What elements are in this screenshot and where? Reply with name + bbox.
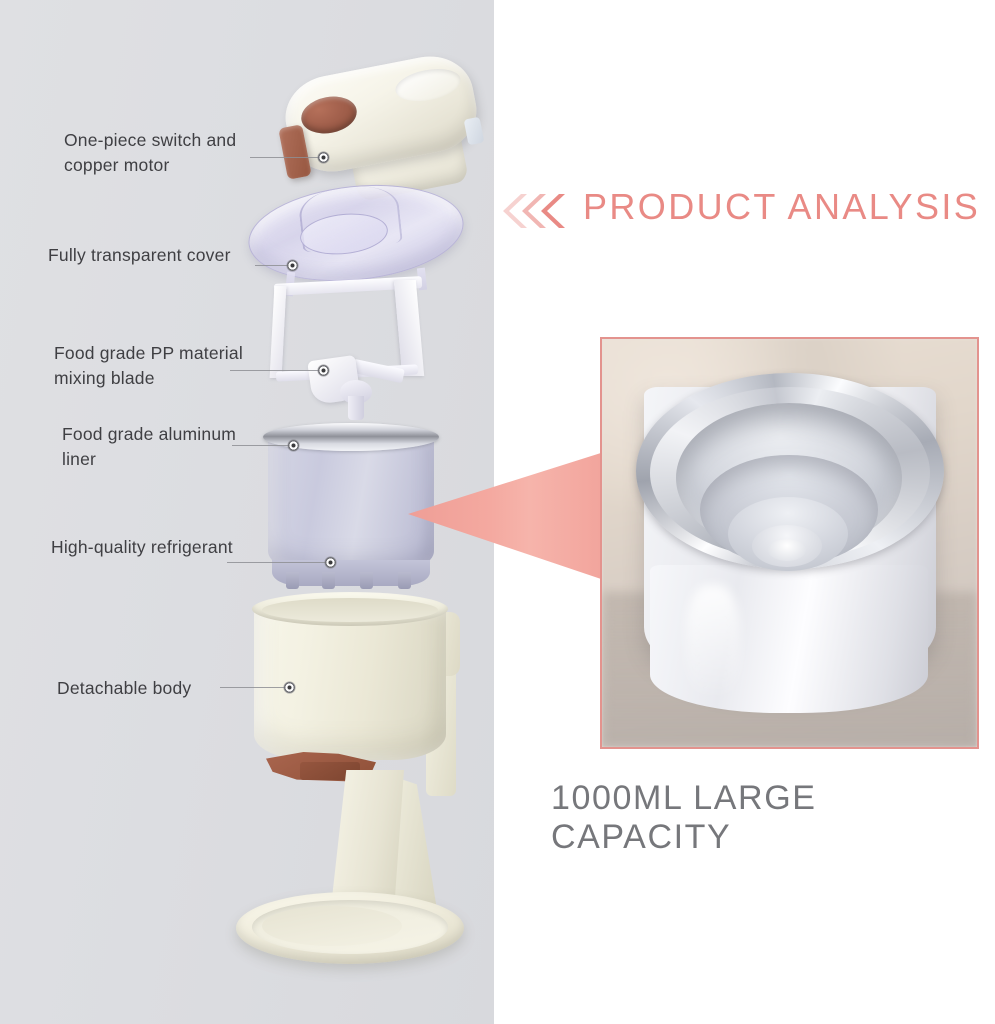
callout-leader-aluminum-liner	[232, 445, 292, 446]
page-title: PRODUCT ANALYSIS	[583, 186, 980, 228]
base-foot-recess	[262, 906, 402, 946]
left-pointing-arrow-icon	[408, 452, 604, 580]
callout-label-mixing-blade: Food grade PP material mixing blade	[54, 341, 243, 391]
liner-foot	[322, 572, 335, 589]
liner-foot	[286, 572, 299, 589]
callout-leader-mixing-blade	[230, 370, 322, 371]
callout-label-switch-motor: One-piece switch and copper motor	[64, 128, 236, 178]
callout-marker-icon-aluminum-liner	[288, 440, 299, 451]
callout-leader-transparent-cover	[255, 265, 290, 266]
callout-marker-icon-switch-motor	[318, 152, 329, 163]
product-analysis-infographic: One-piece switch and copper motorFully t…	[0, 0, 995, 1024]
mixing-blade-arm-left	[270, 286, 287, 378]
callout-leader-switch-motor	[250, 157, 322, 158]
mixing-blade-arm-right	[394, 280, 424, 376]
callout-label-aluminum-liner: Food grade aluminum liner	[62, 422, 236, 472]
callout-marker-icon-mixing-blade	[318, 365, 329, 376]
detachable-body-opening	[262, 598, 438, 622]
liner-highlight	[686, 585, 740, 701]
callout-marker-icon-refrigerant	[325, 557, 336, 568]
aluminum-liner-closeup-photo	[600, 337, 979, 749]
callout-label-refrigerant: High-quality refrigerant	[51, 535, 233, 560]
callout-leader-detachable-body	[220, 687, 288, 688]
motor-clip	[464, 117, 485, 146]
liner-cavity-bottom	[768, 539, 806, 561]
callout-marker-icon-transparent-cover	[287, 260, 298, 271]
callout-label-transparent-cover: Fully transparent cover	[48, 243, 231, 268]
callout-marker-icon-detachable-body	[284, 682, 295, 693]
detachable-body	[254, 608, 446, 760]
liner-foot	[360, 572, 373, 589]
callout-label-detachable-body: Detachable body	[57, 676, 191, 701]
mixing-blade-shaft	[348, 396, 364, 420]
double-chevron-left-icon	[503, 192, 575, 230]
callout-leader-refrigerant	[227, 562, 329, 563]
capacity-caption: 1000ML LARGE CAPACITY	[551, 779, 995, 857]
